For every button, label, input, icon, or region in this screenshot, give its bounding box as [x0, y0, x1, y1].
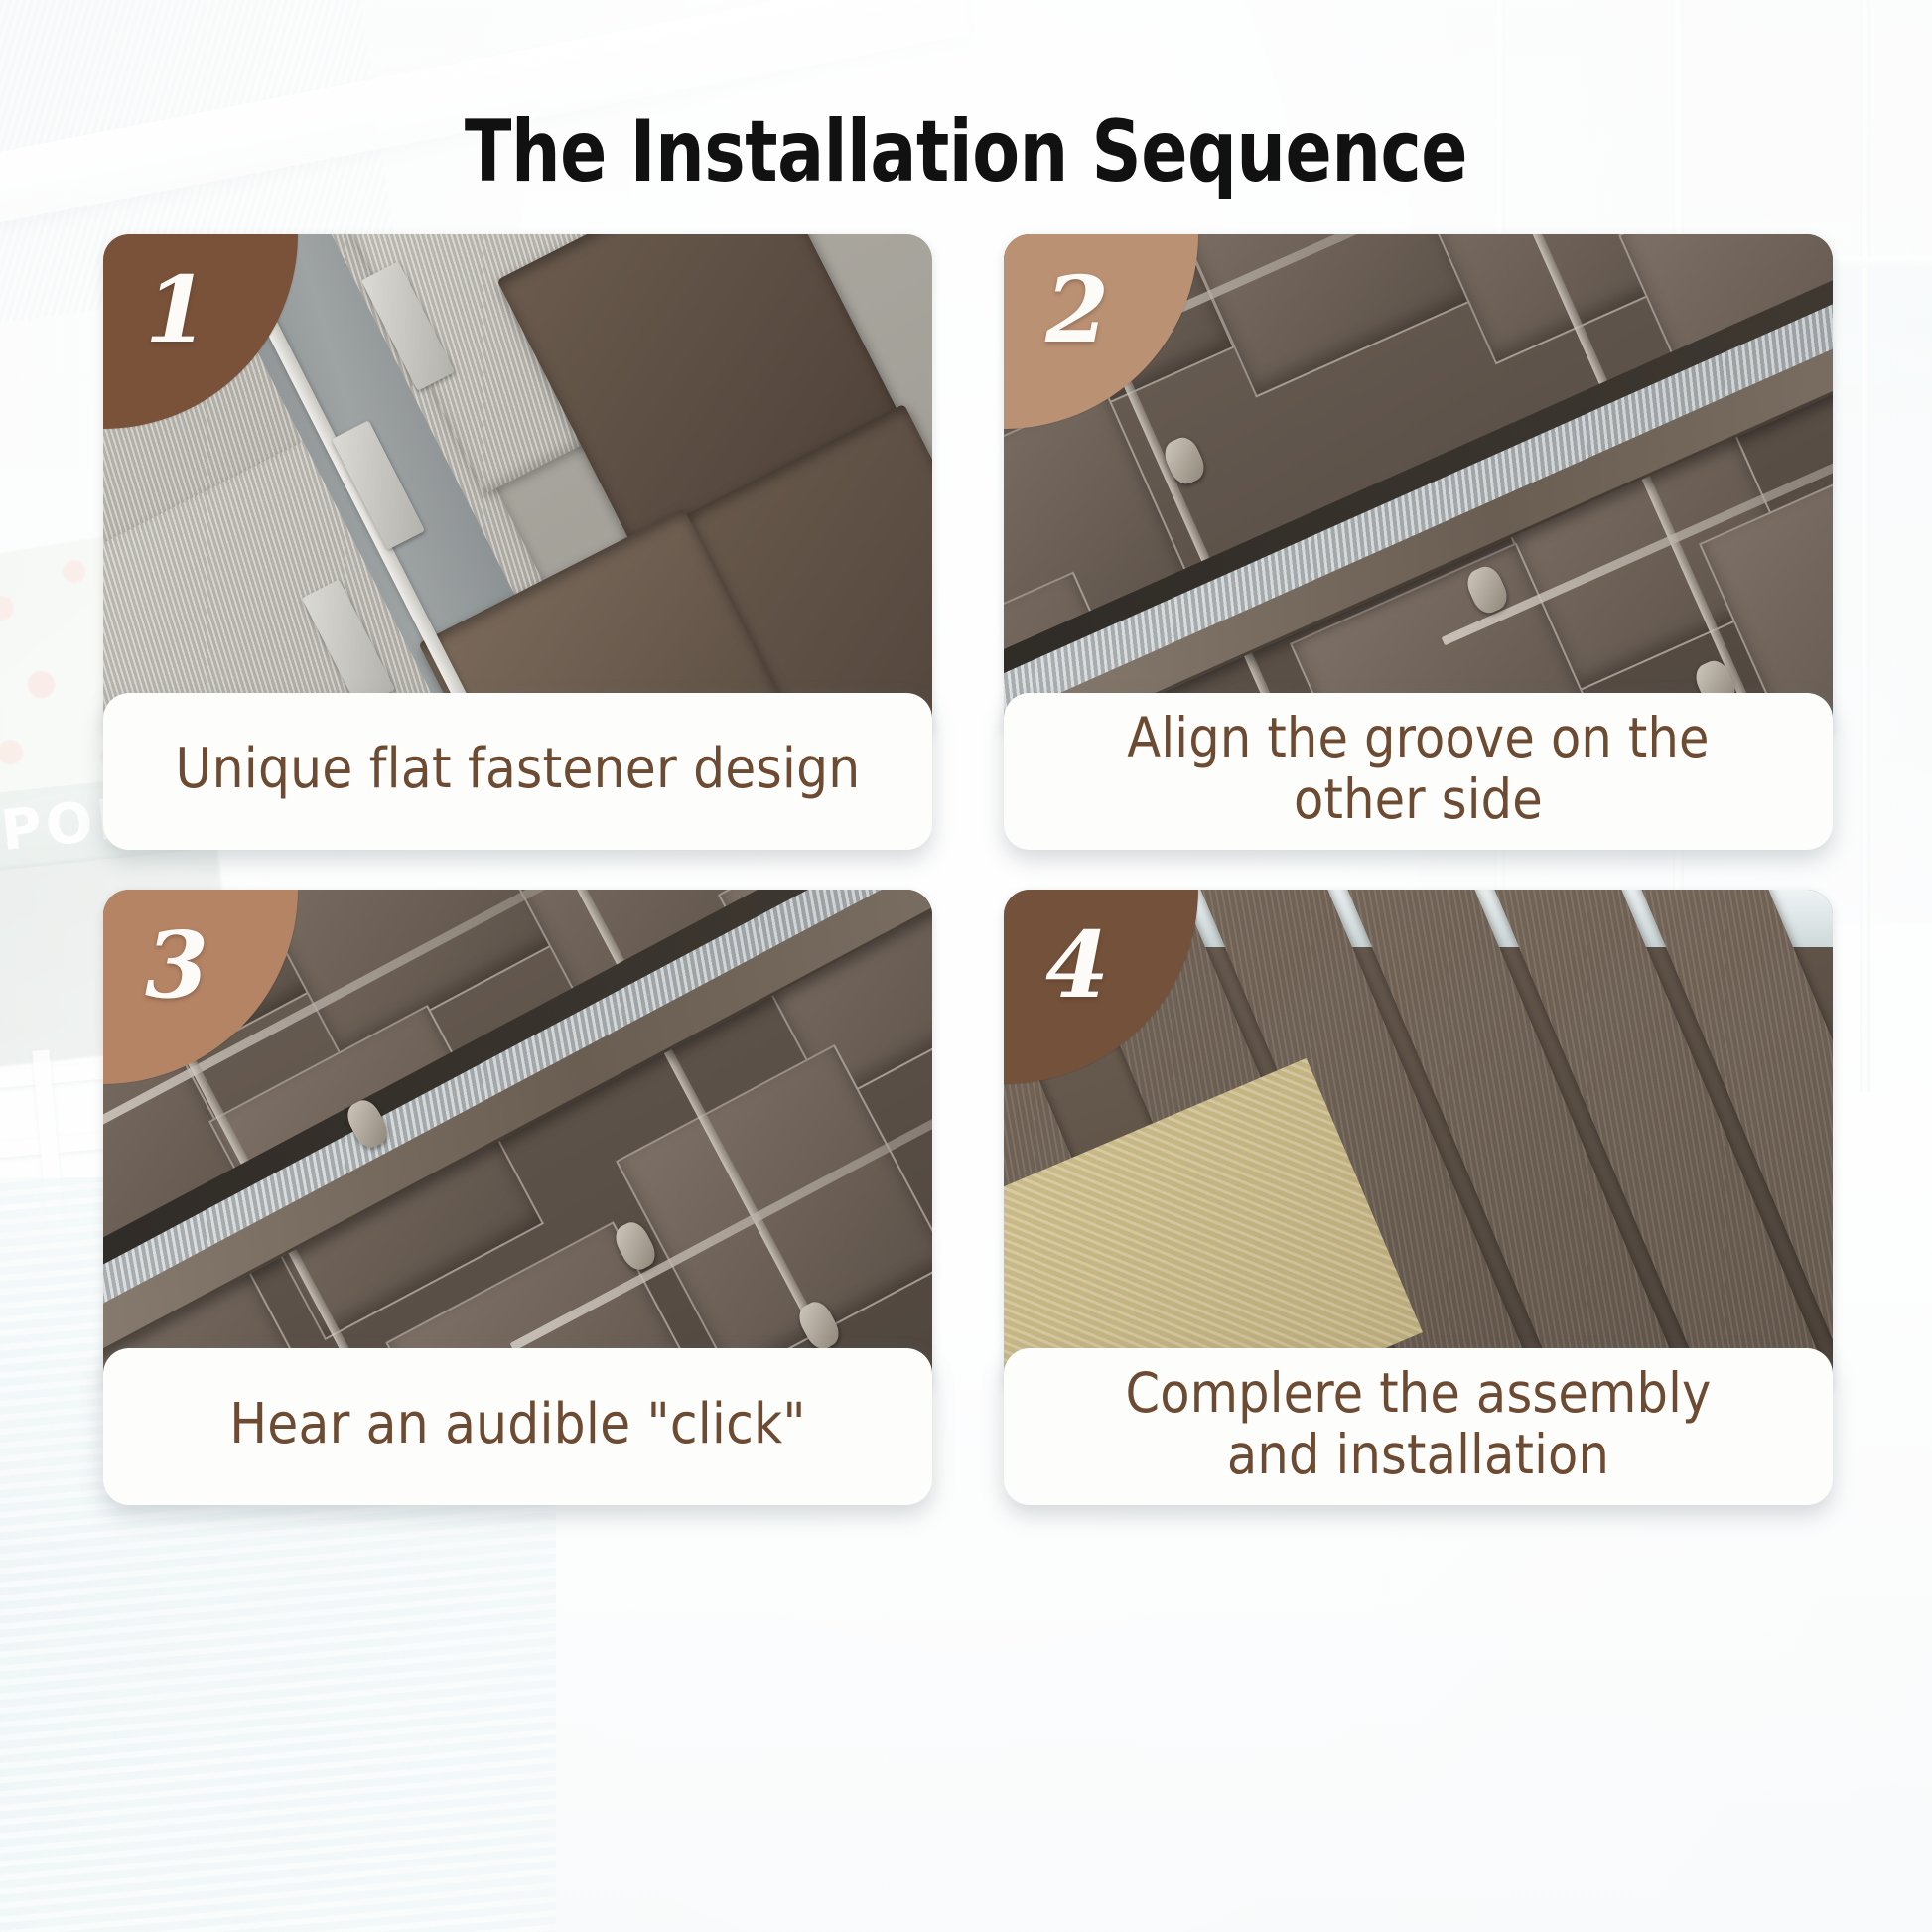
step-caption-text-1: Unique flat fastener design [176, 739, 861, 801]
page-title: The Installation Sequence [96, 102, 1835, 202]
step-caption-card-1: Unique flat fastener design [103, 693, 932, 850]
step-card-4: 4 Complere the assembly and installation [1004, 890, 1833, 1505]
step-number-1: 1 [145, 264, 208, 355]
step-grid: 1 Unique flat fastener design [103, 234, 1833, 1837]
step-card-2: 2 Align the groove on the other side [1004, 234, 1833, 850]
step-caption-card-4: Complere the assembly and installation [1004, 1348, 1833, 1505]
step-caption-card-3: Hear an audible "click" [103, 1348, 932, 1505]
step-caption-text-4: Complere the assembly and installation [1125, 1363, 1711, 1485]
infographic-page: РОША The Installation Sequence [0, 0, 1932, 1932]
step-caption-text-3: Hear an audible "click" [229, 1394, 806, 1456]
step-number-2: 2 [1045, 264, 1109, 355]
step-caption-card-2: Align the groove on the other side [1004, 693, 1833, 850]
step-number-3: 3 [145, 919, 208, 1011]
step-caption-text-2: Align the groove on the other side [1127, 708, 1709, 830]
step-card-1: 1 Unique flat fastener design [103, 234, 932, 850]
step-number-4: 4 [1045, 919, 1109, 1011]
step-card-3: 3 Hear an audible "click" [103, 890, 932, 1505]
